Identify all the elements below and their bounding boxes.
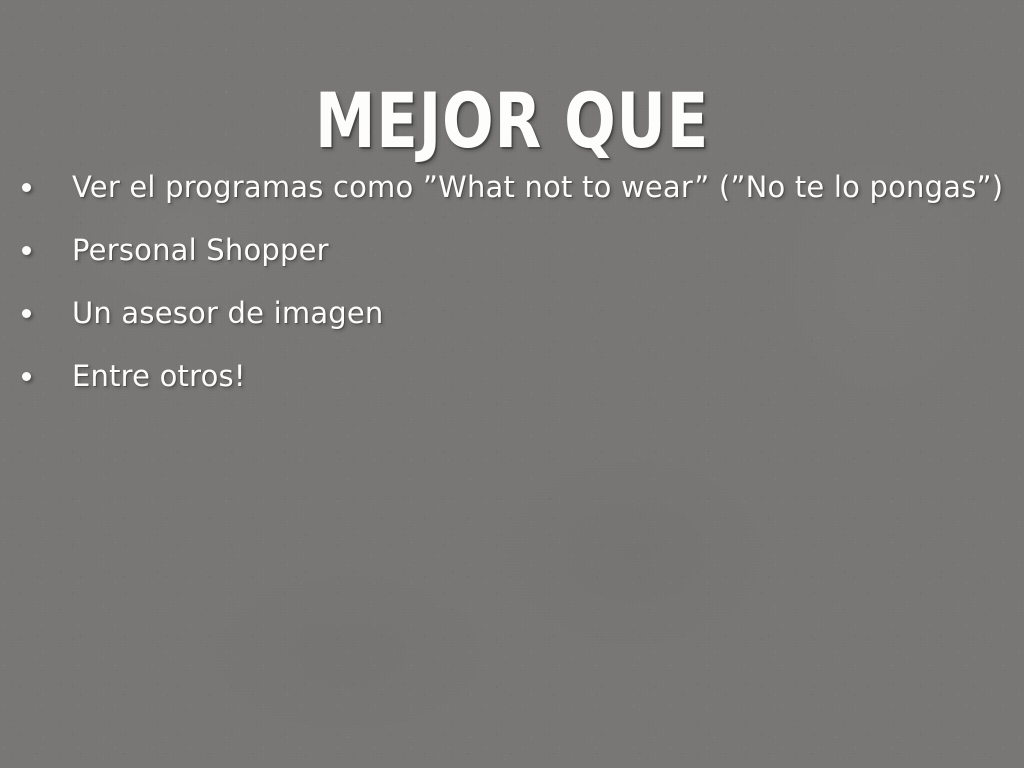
list-item: Ver el programas como ”What not to wear”… [0, 155, 1024, 218]
bullet-dot-icon [22, 372, 31, 381]
bullet-text: Un asesor de imagen [72, 296, 384, 330]
presentation-slide: MEJOR QUE Ver el programas como ”What no… [0, 0, 1024, 768]
bullet-dot-icon [22, 309, 31, 318]
slide-title: MEJOR QUE [102, 83, 921, 159]
list-item: Un asesor de imagen [0, 281, 1024, 344]
bullet-dot-icon [22, 183, 31, 192]
list-item: Entre otros! [0, 344, 1024, 407]
bullet-text: Ver el programas como ”What not to wear”… [72, 170, 1003, 204]
bullet-text: Personal Shopper [72, 233, 329, 267]
bullet-dot-icon [22, 246, 31, 255]
list-item: Personal Shopper [0, 218, 1024, 281]
bullet-text: Entre otros! [72, 359, 246, 393]
bullet-list: Ver el programas como ”What not to wear”… [0, 155, 1024, 407]
